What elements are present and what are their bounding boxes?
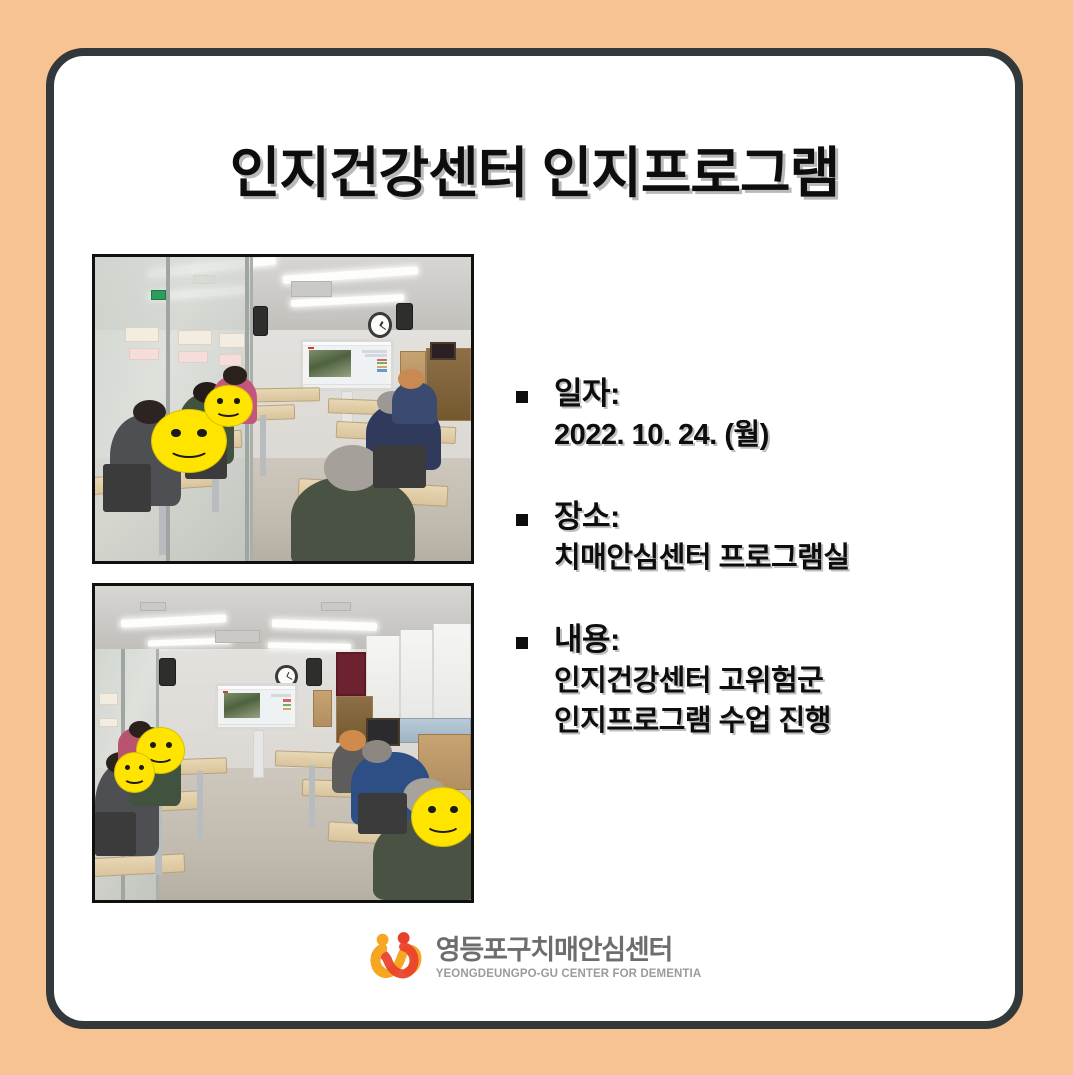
window-blind	[400, 630, 434, 718]
smiley-eye	[428, 806, 436, 813]
ceiling-light-icon	[268, 642, 351, 650]
two-people-infinity-mark-icon	[368, 931, 422, 985]
desk-leg	[197, 771, 203, 840]
wall-panel	[336, 652, 366, 696]
wall-notice	[99, 693, 118, 706]
info-item-place: 장소: 치매안심센터 프로그램실	[509, 497, 1009, 578]
sidebar-thumbnail	[377, 362, 387, 364]
poster-card: 인지건강센터 인지프로그램	[46, 48, 1023, 1029]
page-title: 인지건강센터 인지프로그램	[54, 128, 1015, 208]
desk-leg	[309, 765, 315, 828]
video-thumbnail	[224, 693, 261, 718]
chair	[95, 812, 136, 856]
footer-logo: 영등포구치매안심센터 YEONGDEUNGPO-GU CENTER FOR DE…	[54, 931, 1015, 985]
info-value-content-line2: 인지프로그램 수업 진행	[554, 701, 1009, 741]
wall-notice	[129, 348, 159, 360]
square-bullet-icon	[516, 637, 528, 649]
info-value-place: 치매안심센터 프로그램실	[554, 538, 1009, 578]
participant-head	[223, 366, 247, 384]
speaker-icon	[159, 658, 176, 686]
wall-notice	[219, 333, 245, 348]
ceiling-vent	[140, 602, 166, 611]
smiley-eye	[217, 398, 223, 403]
organization-name-kr: 영등포구치매안심센터	[436, 936, 701, 966]
sidebar-text-line	[271, 694, 291, 697]
classroom-scene-top	[95, 257, 471, 561]
ceiling-vent	[321, 602, 351, 611]
sidebar-thumbnail	[283, 704, 291, 706]
exit-sign	[151, 290, 166, 299]
browser-toolbar	[218, 686, 295, 690]
sidebar-thumbnail	[283, 699, 291, 701]
clock-hand	[379, 325, 385, 330]
info-list: 일자: 2022. 10. 24. (월) 장소: 치매안심센터 프로그램실 내…	[509, 374, 1009, 741]
partition-mullion	[166, 257, 170, 561]
smiley-eye	[171, 429, 181, 437]
window-blind	[433, 624, 471, 718]
smiley-mouth	[123, 770, 146, 783]
smiley-mouth	[425, 813, 461, 833]
classroom-scene-bottom	[95, 586, 471, 900]
sidebar-thumbnail	[377, 366, 387, 368]
sidebar-text-line	[365, 354, 386, 357]
info-label-date: 일자:	[554, 374, 1009, 415]
smiley-face-overlay	[114, 752, 155, 793]
smiley-mouth	[215, 404, 242, 418]
ceiling-vent	[215, 630, 260, 643]
info-value-date: 2022. 10. 24. (월)	[554, 415, 1009, 455]
smiley-mouth	[168, 437, 210, 458]
info-item-content: 내용: 인지건강센터 고위험군 인지프로그램 수업 진행	[509, 620, 1009, 741]
info-item-date: 일자: 2022. 10. 24. (월)	[509, 374, 1009, 455]
sidebar-text-line	[362, 350, 387, 353]
info-label-content: 내용:	[554, 620, 1009, 661]
chair	[373, 445, 426, 488]
sidebar-thumbnail	[283, 708, 291, 710]
presentation-display	[215, 683, 298, 730]
speaker-icon	[396, 303, 413, 330]
desk-leg	[260, 415, 266, 476]
wall-notice	[178, 330, 212, 345]
info-value-content-line1: 인지건강센터 고위험군	[554, 661, 1009, 701]
square-bullet-icon	[516, 514, 528, 526]
speaker-icon	[306, 658, 323, 686]
organization-name-en: YEONGDEUNGPO-GU CENTER FOR DEMENTIA	[436, 968, 701, 980]
classroom-photo-bottom	[92, 583, 474, 903]
clock-hand	[286, 676, 292, 680]
chair	[358, 793, 407, 834]
classroom-photo-top	[92, 254, 474, 564]
logo-text-block: 영등포구치매안심센터 YEONGDEUNGPO-GU CENTER FOR DE…	[436, 936, 701, 981]
monitor	[430, 342, 456, 360]
smiley-face-overlay	[411, 787, 471, 847]
wall-notice	[178, 351, 208, 363]
smiley-eye	[450, 806, 458, 813]
wall-cabinet	[313, 690, 332, 728]
sidebar-thumbnail	[377, 369, 387, 371]
wall-notice	[99, 718, 118, 727]
presentation-display	[300, 339, 394, 391]
wall-notice	[125, 327, 159, 342]
sidebar-thumbnail	[377, 359, 387, 361]
ceiling-vent	[291, 281, 332, 296]
square-bullet-icon	[516, 391, 528, 403]
photo-column	[92, 254, 474, 903]
participant-head	[398, 369, 424, 389]
browser-toolbar	[303, 342, 391, 346]
smiley-eye	[197, 429, 207, 437]
smiley-face-overlay	[204, 385, 253, 428]
info-label-place: 장소:	[554, 497, 1009, 538]
chair	[103, 464, 152, 513]
speaker-icon	[253, 306, 268, 336]
display-stand	[253, 730, 264, 777]
wall-notice	[219, 354, 242, 366]
video-thumbnail	[309, 350, 351, 377]
wall-clock-icon	[368, 312, 392, 338]
screen-status-bar	[218, 724, 295, 727]
smiley-eye	[234, 398, 240, 403]
